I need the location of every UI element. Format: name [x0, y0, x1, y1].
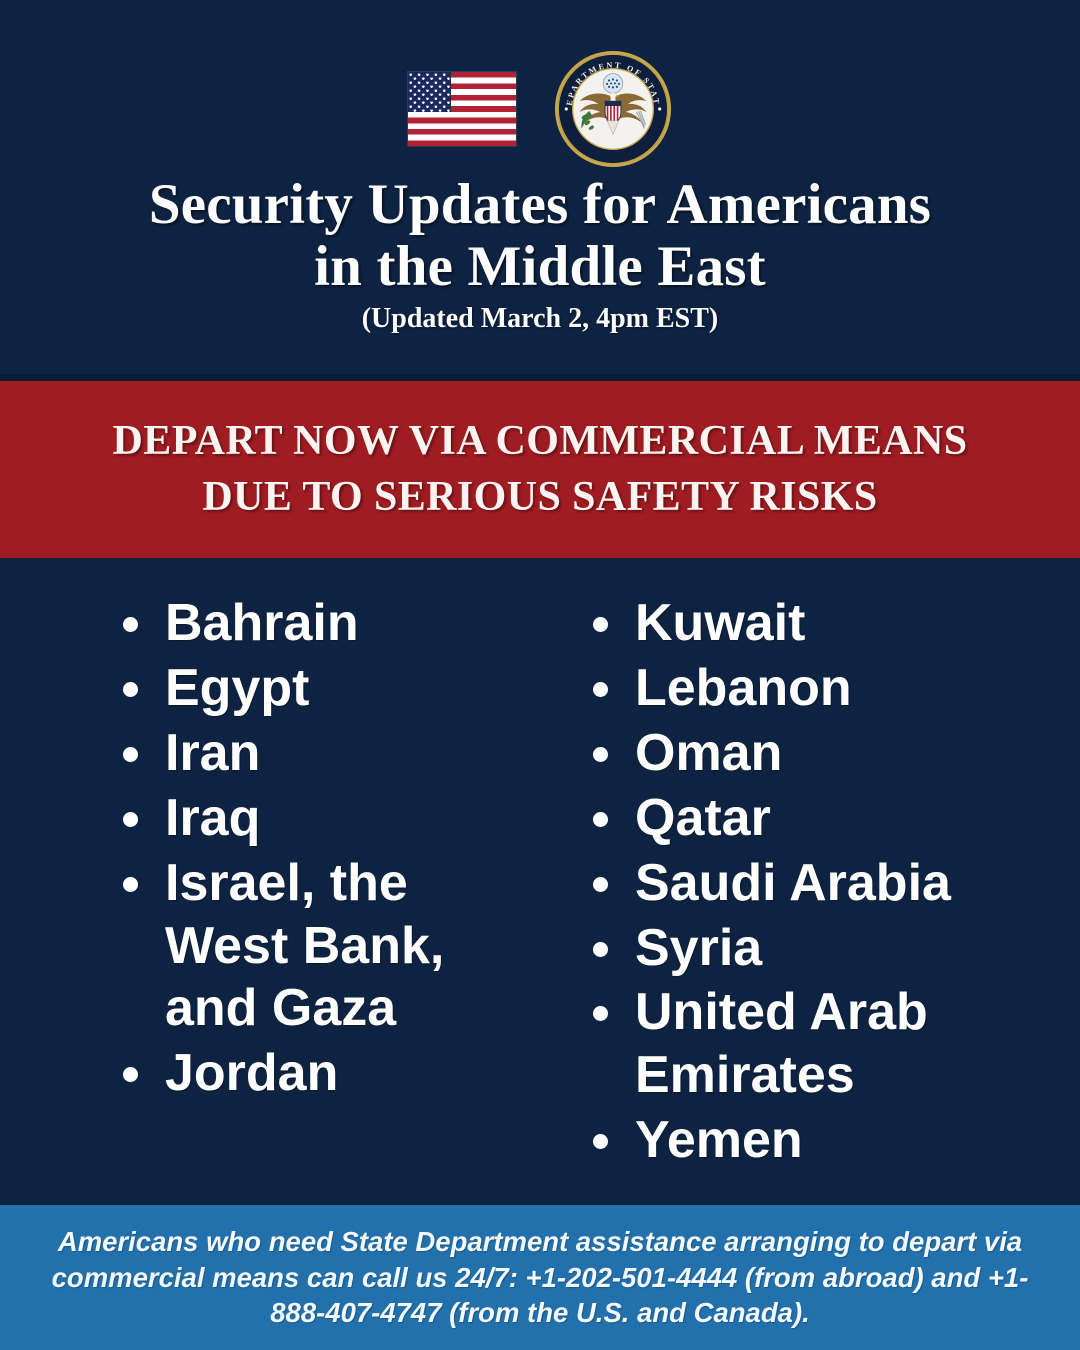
list-item: Israel, the West Bank, and Gaza: [109, 852, 521, 1041]
country-list-right: Kuwait Lebanon Oman Qatar Saudi Arabia S…: [579, 592, 999, 1172]
list-item: Syria: [579, 917, 999, 980]
alert-banner-line-1: DEPART NOW VIA COMMERCIAL MEANS: [113, 417, 968, 467]
list-item: Yemen: [579, 1109, 999, 1172]
list-item: Iraq: [109, 787, 521, 850]
security-update-poster: DEPARTMENT OF STATE UNITED STATES OF AME…: [0, 0, 1080, 1350]
poster-header: DEPARTMENT OF STATE UNITED STATES OF AME…: [0, 0, 1080, 381]
update-timestamp: (Updated March 2, 4pm EST): [40, 303, 1040, 335]
title-line-1: Security Updates for Americans: [149, 173, 931, 236]
list-item: Iran: [109, 722, 521, 785]
list-item: Kuwait: [579, 592, 999, 655]
list-item: Qatar: [579, 787, 999, 850]
department-of-state-seal-icon: DEPARTMENT OF STATE UNITED STATES OF AME…: [554, 50, 672, 168]
country-column-right: Kuwait Lebanon Oman Qatar Saudi Arabia S…: [559, 592, 999, 1205]
us-flag-icon: [408, 72, 516, 146]
title-block: Security Updates for Americans in the Mi…: [0, 174, 1080, 335]
list-item: United Arab Emirates: [579, 981, 999, 1107]
list-item: Oman: [579, 722, 999, 785]
country-lists: Bahrain Egypt Iran Iraq Israel, the West…: [0, 558, 1080, 1205]
list-item: Saudi Arabia: [579, 852, 999, 915]
alert-banner-line-2: DUE TO SERIOUS SAFETY RISKS: [202, 473, 877, 523]
footer-contact-banner: Americans who need State Department assi…: [0, 1205, 1080, 1350]
title-line-2: in the Middle East: [40, 236, 1040, 298]
alert-banner: DEPART NOW VIA COMMERCIAL MEANS DUE TO S…: [0, 381, 1080, 558]
list-item: Bahrain: [109, 592, 521, 655]
logo-row: DEPARTMENT OF STATE UNITED STATES OF AME…: [408, 54, 672, 164]
country-column-left: Bahrain Egypt Iran Iraq Israel, the West…: [81, 592, 521, 1205]
flag-stars: [408, 72, 451, 112]
country-list-left: Bahrain Egypt Iran Iraq Israel, the West…: [109, 592, 521, 1105]
list-item: Egypt: [109, 657, 521, 720]
list-item: Lebanon: [579, 657, 999, 720]
list-item: Jordan: [109, 1042, 521, 1105]
page-title: Security Updates for Americans in the Mi…: [40, 174, 1040, 297]
footer-contact-text: Americans who need State Department assi…: [46, 1224, 1034, 1331]
